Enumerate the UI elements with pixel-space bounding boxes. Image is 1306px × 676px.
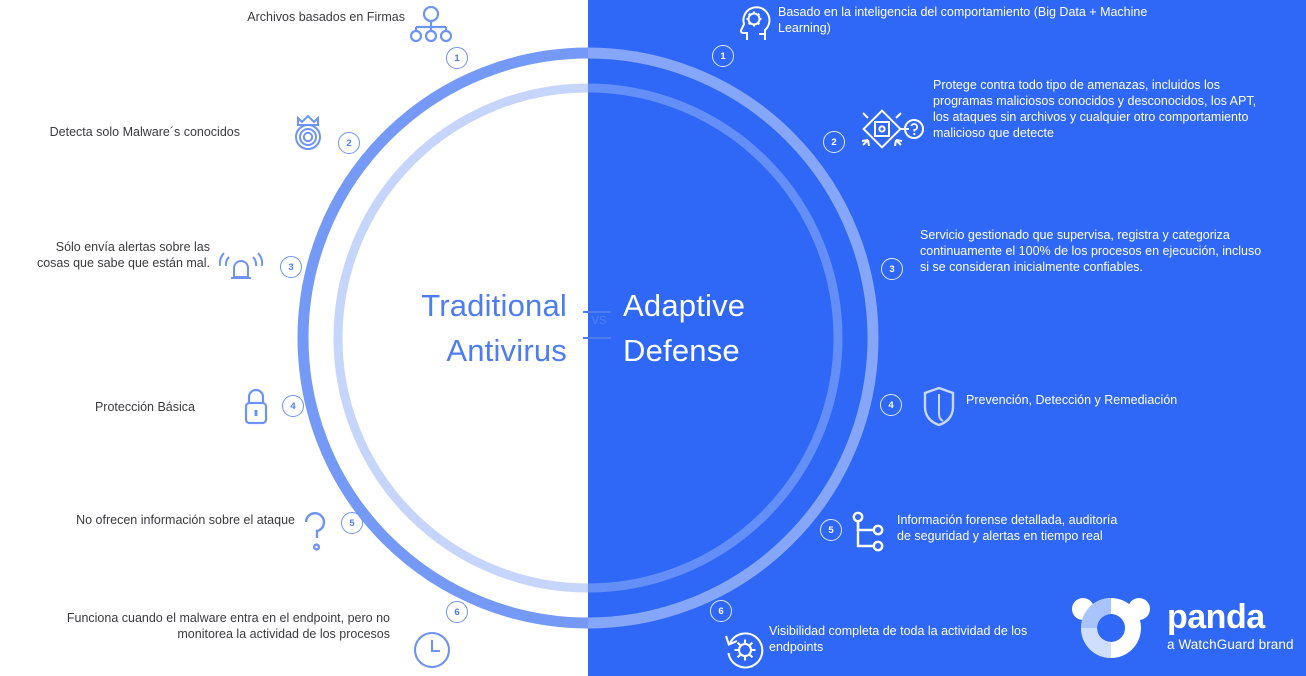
right-item-4-label: Prevención, Detección y Remediación [966,392,1196,408]
left-item-4-label: Protección Básica [0,399,195,415]
right-badge-1[interactable]: 1 [712,45,734,67]
title-traditional-antivirus: Traditional Antivirus [327,283,567,373]
right-badge-3[interactable]: 3 [881,258,903,280]
panda-wordmark: panda [1167,598,1265,636]
center-title: Traditional Antivirus vs Adaptive Defens… [380,283,800,368]
hierarchy-tree-icon [410,5,452,45]
left-badge-6[interactable]: 6 [446,601,468,623]
right-item-3-label: Servicio gestionado que supervisa, regis… [920,227,1268,275]
head-gear-ai-icon [735,2,773,42]
left-item-3-label: Sólo envía alertas sobre las cosas que s… [20,239,210,271]
siren-alarm-icon [219,247,263,283]
left-badge-1[interactable]: 1 [446,47,468,69]
infographic-canvas: Traditional Antivirus vs Adaptive Defens… [0,0,1306,676]
right-badge-6[interactable]: 6 [710,600,732,622]
unknown-threat-icon [855,105,925,161]
left-item-2-label: Detecta solo Malware´s conocidos [0,124,240,140]
right-item-5-label: Información forense detallada, auditoría… [897,512,1122,544]
left-badge-2[interactable]: 2 [338,132,360,154]
vs-label: vs [581,311,617,328]
right-item-2-label: Protege contra todo tipo de amenazas, in… [933,77,1265,141]
panda-mark-icon [1063,596,1159,660]
vs-rule-bottom [583,337,611,339]
target-crown-icon [292,113,324,155]
clock-icon [412,630,452,670]
shield-icon [921,385,957,429]
left-badge-3[interactable]: 3 [280,256,302,278]
padlock-icon [240,385,272,429]
right-badge-2[interactable]: 2 [823,131,845,153]
right-badge-4[interactable]: 4 [880,394,902,416]
question-mark-icon [301,508,331,554]
left-badge-4[interactable]: 4 [282,395,304,417]
gear-refresh-icon [722,627,768,673]
left-item-5-label: No ofrecen información sobre el ataque [50,512,295,528]
left-item-6-label: Funciona cuando el malware entra en el e… [60,610,390,642]
node-branch-icon [851,510,889,556]
title-adaptive-defense: Adaptive Defense [623,283,863,373]
right-item-6-label: Visibilidad completa de toda la activida… [769,623,1029,655]
left-item-1-label: Archivos basados en Firmas [75,9,405,25]
right-item-1-label: Basado en la inteligencia del comportami… [778,4,1178,36]
left-badge-5[interactable]: 5 [341,512,363,534]
right-badge-5[interactable]: 5 [820,519,842,541]
panda-tagline: a WatchGuard brand [1167,637,1294,652]
panda-watchguard-logo: panda a WatchGuard brand [1063,596,1293,662]
